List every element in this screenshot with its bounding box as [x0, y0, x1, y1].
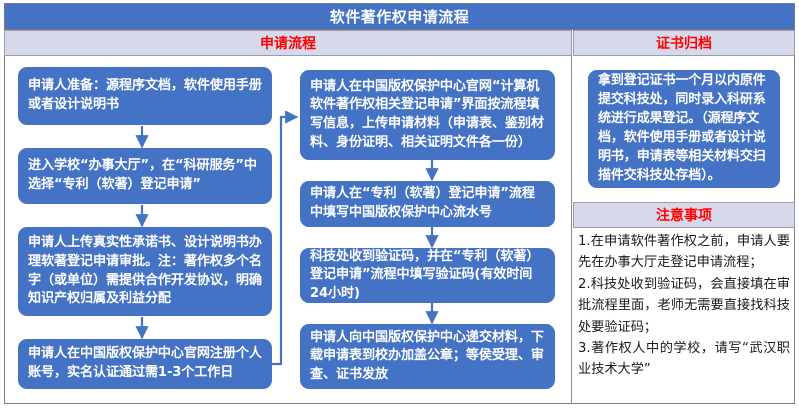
flow-box-left-3-text: 申请人上传真实性承诺书、设计说明书办理软著登记申请审批。注：著作权多个名字（或单… [28, 234, 262, 308]
flow-box-left-1[interactable]: 申请人准备：源程序文档，软件使用手册或者设计说明书 [18, 67, 272, 125]
flow-box-middle-3[interactable]: 科技处收到验证码，并在“专利（软著）登记申请”流程中填写验证码(有效时间24小时… [300, 248, 555, 303]
flow-box-left-3[interactable]: 申请人上传真实性承诺书、设计说明书办理软著登记申请审批。注：著作权多个名字（或单… [18, 227, 272, 316]
flow-box-left-4-text: 申请人在中国版权保护中心官网注册个人账号，实名认证通过需1-3个工作日 [28, 345, 262, 382]
flow-box-left-2[interactable]: 进入学校“办事大厅”，在“科研服务”中选择“专利（软著）登记申请” [18, 148, 272, 204]
page-title: 软件著作权申请流程 [4, 3, 795, 30]
notes-header-text: 注意事项 [656, 205, 712, 225]
column-header-left-text: 申请流程 [260, 33, 316, 53]
flow-box-middle-2[interactable]: 申请人在“专利（软著）登记申请”流程中填写中国版权保护中心流水号 [300, 181, 555, 227]
column-divider [571, 56, 572, 404]
flow-box-middle-1[interactable]: 申请人在中国版权保护中心官网“计算机软件著作权相关登记申请”界面按流程填写信息，… [300, 70, 555, 160]
flow-box-right-1[interactable]: 拿到登记证书一个月以内原件提交科技处，同时录入科研系统进行成果登记。（源程序文档… [588, 70, 780, 188]
flow-box-middle-4[interactable]: 申请人向中国版权保护中心递交材料，下载申请表到校办加盖公章；等侯受理、审查、证书… [300, 324, 555, 389]
note-item-2: 2.科技处收到验证码，会直接填在审批流程里面，老师无需要直接找科技处要验证码； [578, 274, 790, 338]
column-header-right-text: 证书归档 [656, 33, 712, 53]
note-item-1: 1.在申请软件著作权之前，申请人要先在办事大厅走登记申请流程； [578, 231, 790, 274]
flow-box-left-1-text: 申请人准备：源程序文档，软件使用手册或者设计说明书 [28, 77, 262, 114]
flow-box-middle-3-text: 科技处收到验证码，并在“专利（软著）登记申请”流程中填写验证码(有效时间24小时… [310, 248, 545, 304]
column-header-certificate-archive: 证书归档 [573, 30, 795, 56]
notes-body: 1.在申请软件著作权之前，申请人要先在办事大厅走登记申请流程； 2.科技处收到验… [576, 231, 792, 399]
flowchart-page: 软件著作权申请流程 申请流程 证书归档 申请人准备：源程序文档，软件使用手册或者… [0, 0, 799, 408]
notes-header: 注意事项 [573, 202, 795, 228]
column-header-application-process: 申请流程 [4, 30, 572, 56]
flow-box-left-2-text: 进入学校“办事大厅”，在“科研服务”中选择“专利（软著）登记申请” [28, 157, 262, 194]
flow-box-middle-2-text: 申请人在“专利（软著）登记申请”流程中填写中国版权保护中心流水号 [310, 185, 545, 222]
flow-box-left-4[interactable]: 申请人在中国版权保护中心官网注册个人账号，实名认证通过需1-3个工作日 [18, 339, 272, 389]
flow-box-middle-1-text: 申请人在中国版权保护中心官网“计算机软件著作权相关登记申请”界面按流程填写信息，… [310, 78, 545, 152]
page-title-text: 软件著作权申请流程 [330, 6, 470, 27]
flow-box-middle-4-text: 申请人向中国版权保护中心递交材料，下载申请表到校办加盖公章；等侯受理、审查、证书… [310, 329, 545, 385]
note-item-3: 3.著作权人中的学校，请写“武汉职业技术大学” [578, 338, 790, 381]
flow-box-right-1-text: 拿到登记证书一个月以内原件提交科技处，同时录入科研系统进行成果登记。（源程序文档… [598, 72, 770, 185]
